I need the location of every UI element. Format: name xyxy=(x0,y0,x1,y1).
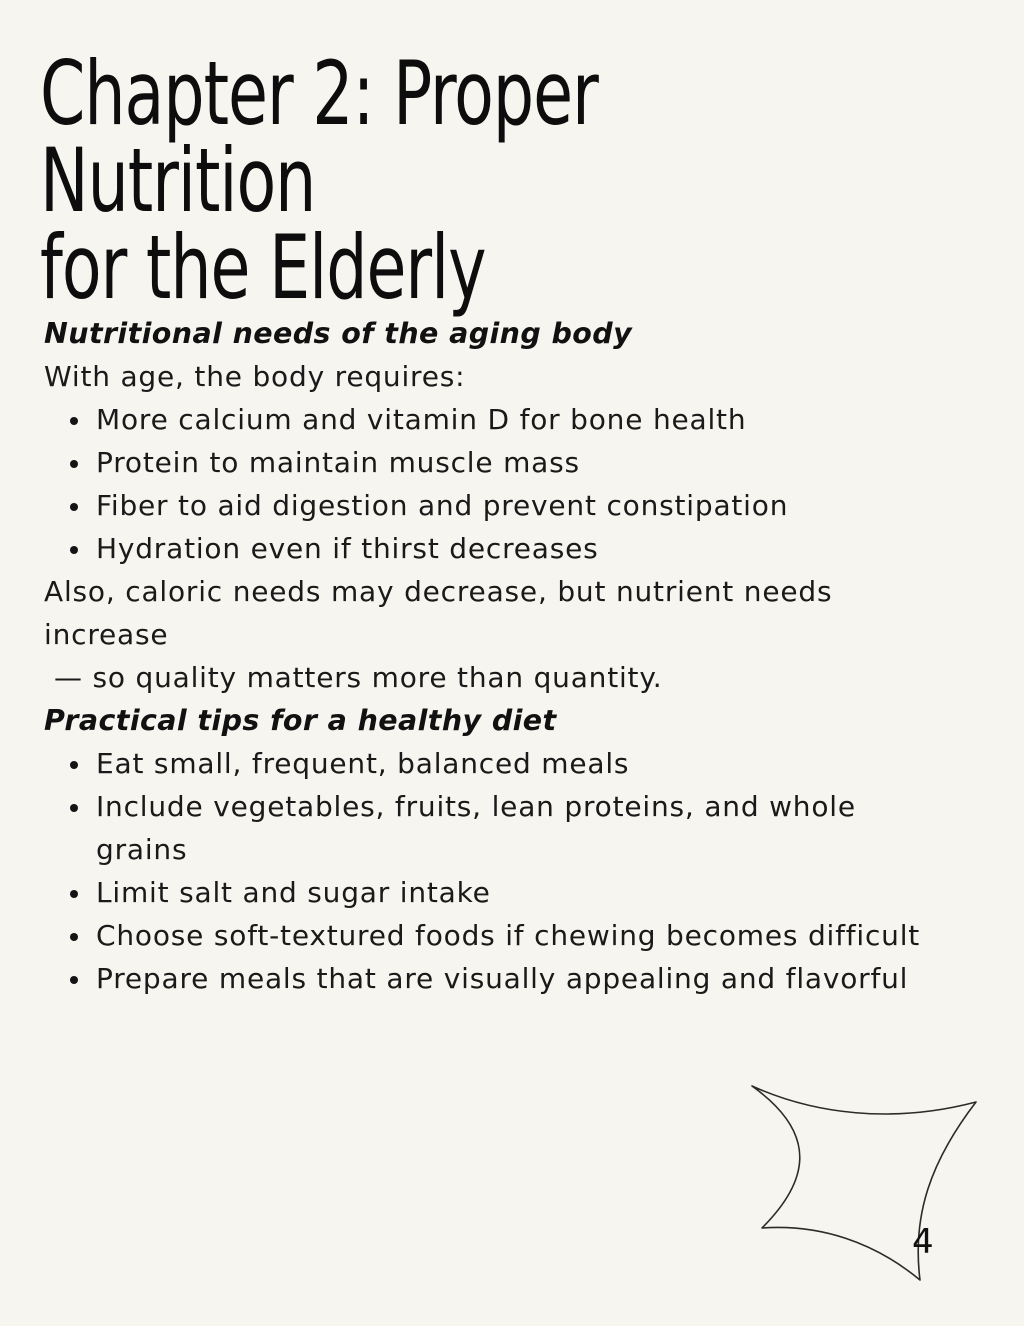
list-item: Include vegetables, fruits, lean protein… xyxy=(44,785,944,871)
list-item: Hydration even if thirst decreases xyxy=(44,527,944,570)
document-page: Chapter 2: Proper Nutrition for the Elde… xyxy=(0,0,1024,1326)
page-number: 4 xyxy=(912,1222,934,1262)
section-heading: Practical tips for a healthy diet xyxy=(44,699,944,742)
section-outro-dash-text: — so quality matters more than quantity. xyxy=(44,656,944,699)
list-item: More calcium and vitamin D for bone heal… xyxy=(44,398,944,441)
star-outline-shape-icon xyxy=(724,1066,1024,1326)
list-item: Limit salt and sugar intake xyxy=(44,871,944,914)
list-item: Fiber to aid digestion and prevent const… xyxy=(44,484,944,527)
section-outro-text: Also, caloric needs may decrease, but nu… xyxy=(44,570,944,656)
list-item: Choose soft-textured foods if chewing be… xyxy=(44,914,944,957)
page-title: Chapter 2: Proper Nutrition for the Elde… xyxy=(40,50,811,311)
bullet-list-tips: Eat small, frequent, balanced meals Incl… xyxy=(44,742,944,1000)
page-body: Nutritional needs of the aging body With… xyxy=(44,312,944,1000)
section-heading: Nutritional needs of the aging body xyxy=(44,312,944,355)
section-nutritional-needs: Nutritional needs of the aging body With… xyxy=(44,312,944,699)
list-item: Protein to maintain muscle mass xyxy=(44,441,944,484)
list-item: Prepare meals that are visually appealin… xyxy=(44,957,944,1000)
section-practical-tips: Practical tips for a healthy diet Eat sm… xyxy=(44,699,944,1000)
section-intro-text: With age, the body requires: xyxy=(44,355,944,398)
list-item: Eat small, frequent, balanced meals xyxy=(44,742,944,785)
bullet-list-needs: More calcium and vitamin D for bone heal… xyxy=(44,398,944,570)
